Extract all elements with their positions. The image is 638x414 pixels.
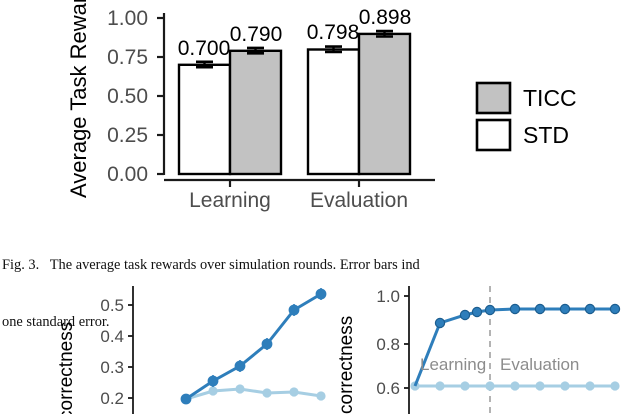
legend-label-ticc: TICC — [523, 85, 577, 111]
right-y-tick-label: 1.0 — [376, 287, 400, 306]
bar-chart-svg: Average Task Reward 1.00 0.75 0.50 0.25 … — [0, 0, 638, 212]
y-tick-label: 0.25 — [107, 124, 148, 147]
bar-learning-std — [179, 65, 230, 174]
left-y-tick-label: 0.4 — [100, 327, 124, 346]
right-y-tick-label: 0.8 — [376, 335, 400, 354]
y-tick-label: 1.00 — [107, 7, 148, 30]
y-tick-label: 0.75 — [107, 46, 148, 69]
left-y-axis-title: correctness — [56, 322, 77, 414]
x-tick-label-evaluation: Evaluation — [310, 189, 408, 212]
x-tick-label-learning: Learning — [189, 189, 271, 212]
left-line-panel: correctness 0.5 0.4 0.3 0.2 — [56, 286, 326, 414]
phase-label-learning: Learning — [420, 355, 486, 374]
phase-label-evaluation: Evaluation — [500, 355, 579, 374]
right-y-axis-title: correctness — [336, 316, 357, 414]
legend-label-std: STD — [523, 122, 569, 148]
bar-value-label: 0.898 — [359, 6, 412, 29]
line-charts-svg: correctness 0.5 0.4 0.3 0.2 — [0, 272, 638, 414]
legend-swatch-ticc — [477, 83, 510, 113]
bar-evaluation-ticc — [359, 34, 410, 174]
figure-3-bar-chart: Average Task Reward 1.00 0.75 0.50 0.25 … — [0, 0, 638, 212]
right-series-ticc-line — [415, 309, 615, 386]
left-series-std-line — [186, 389, 321, 399]
left-y-tick-label: 0.5 — [100, 296, 124, 315]
left-series-ticc-line — [186, 294, 321, 399]
bar-learning-ticc — [230, 51, 281, 174]
left-y-tick-label: 0.3 — [100, 358, 124, 377]
legend-swatch-std — [477, 120, 510, 150]
y-tick-label: 0.00 — [107, 163, 148, 186]
bar-value-label: 0.798 — [307, 21, 360, 44]
figure-4-line-charts: correctness 0.5 0.4 0.3 0.2 — [0, 272, 638, 414]
right-series-std-points — [410, 381, 619, 390]
bar-evaluation-std — [308, 50, 359, 175]
right-line-panel: correctness 1.0 0.8 0.6 — [336, 286, 620, 414]
bar-value-label: 0.700 — [178, 37, 231, 60]
left-y-tick-label: 0.2 — [100, 389, 124, 408]
bar-value-label: 0.790 — [230, 23, 283, 46]
y-axis-title: Average Task Reward — [66, 0, 91, 198]
legend: TICC STD — [477, 83, 577, 150]
y-tick-label: 0.50 — [107, 85, 148, 108]
right-y-tick-label: 0.6 — [376, 379, 400, 398]
